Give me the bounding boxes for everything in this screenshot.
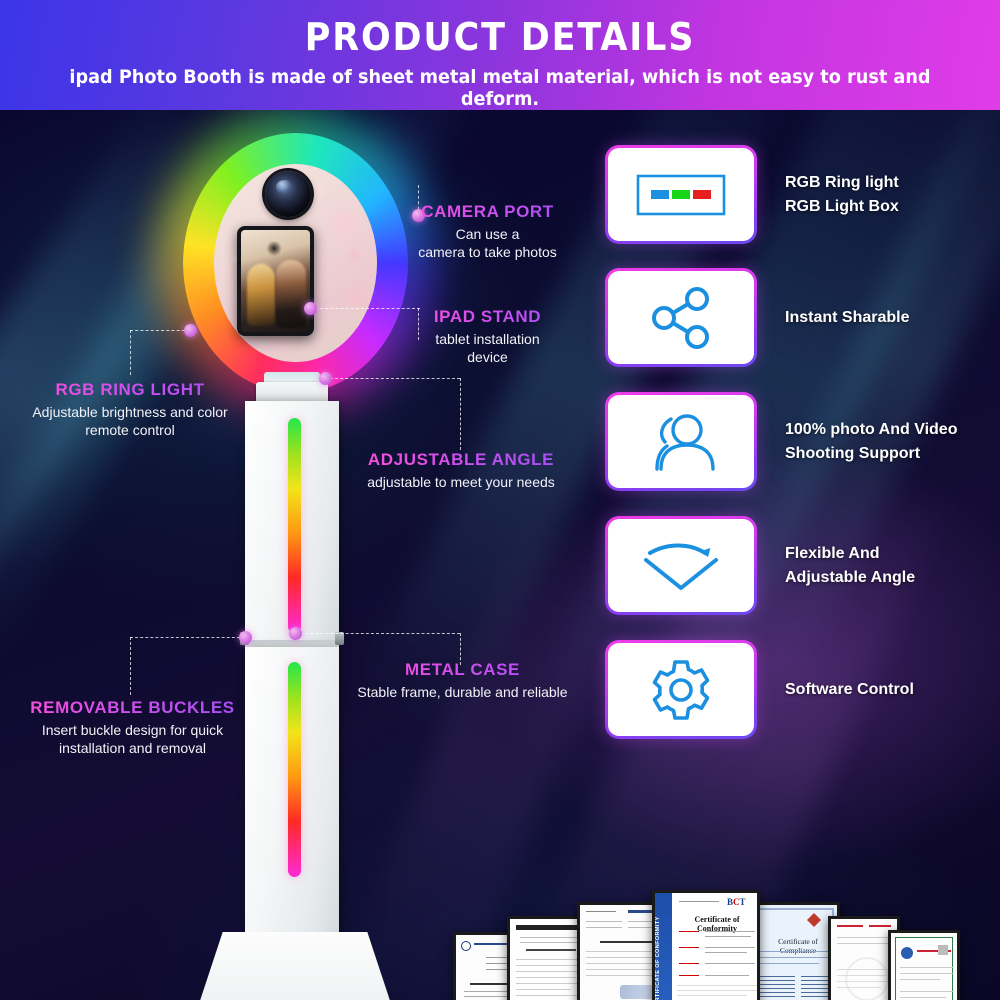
callout-removable-buckles: REMOVABLE BUCKLES Insert buckle design f…	[5, 698, 260, 757]
rgb-strip-upper	[288, 418, 301, 633]
angle-arrow-icon	[639, 540, 723, 592]
connector-dot	[184, 324, 197, 337]
feature-label-line1: Flexible And	[785, 542, 915, 565]
certificates-gallery: CERTIFICATE OF CONFORMITY BCT Certificat…	[445, 888, 960, 1000]
feature-label: Software Control	[785, 678, 914, 701]
feature-label: RGB Ring light RGB Light Box	[785, 171, 899, 217]
rgb-strip-lower	[288, 662, 301, 877]
feature-icon-box	[605, 640, 757, 739]
share-icon	[650, 285, 712, 351]
certificate-item[interactable]: Certificate of Compliance	[748, 902, 840, 1000]
person-icon	[645, 411, 717, 473]
certificate-spine-text: CERTIFICATE OF CONFORMITY	[655, 901, 672, 1000]
feature-label-line2: RGB Light Box	[785, 195, 899, 218]
feature-label-line1: Software Control	[785, 678, 914, 701]
feature-item-rgb-light[interactable]: RGB Ring light RGB Light Box	[605, 145, 899, 244]
feature-label: Instant Sharable	[785, 306, 909, 329]
tablet-screen-photo	[241, 230, 310, 332]
certificate-title: Certificate of Compliance	[761, 937, 835, 955]
ring-light-assembly	[183, 133, 408, 393]
connector-line	[130, 330, 190, 331]
feature-item-adjustable-angle[interactable]: Flexible And Adjustable Angle	[605, 516, 915, 615]
rgb-light-box-icon	[635, 172, 727, 218]
callout-desc-line1: adjustable to meet your needs	[352, 473, 570, 491]
callout-camera-port: CAMERA PORT Can use a camera to take pho…	[395, 202, 580, 261]
callout-desc-line1: Can use a	[395, 225, 580, 243]
callout-ipad-stand: IPAD STAND tablet installation device	[400, 307, 575, 366]
callout-adjustable-angle: ADJUSTABLE ANGLE adjustable to meet your…	[352, 450, 570, 491]
product-detail-page: PRODUCT DETAILS ipad Photo Booth is made…	[0, 0, 1000, 1000]
connector-dot	[304, 302, 317, 315]
callout-desc-line2: device	[400, 348, 575, 366]
callout-desc-line1: Adjustable brightness and color	[10, 403, 250, 421]
callout-desc-line1: Stable frame, durable and reliable	[350, 683, 575, 701]
callout-title: RGB RING LIGHT	[10, 380, 250, 400]
callout-desc-line2: camera to take photos	[395, 243, 580, 261]
callout-title: ADJUSTABLE ANGLE	[352, 450, 570, 470]
callout-desc-line1: tablet installation	[400, 330, 575, 348]
feature-label-line2: Adjustable Angle	[785, 566, 915, 589]
callout-desc-line1: Insert buckle design for quick	[5, 721, 260, 739]
feature-label-line2: Shooting Support	[785, 442, 957, 465]
connector-line	[130, 330, 131, 375]
feature-icon-box	[605, 392, 757, 491]
callout-title: REMOVABLE BUCKLES	[5, 698, 260, 718]
feature-item-photo-video-support[interactable]: 100% photo And Video Shooting Support	[605, 392, 957, 491]
stage: CAMERA PORT Can use a camera to take pho…	[0, 110, 1000, 1000]
certificate-item[interactable]	[888, 930, 960, 1000]
callout-metal-case: METAL CASE Stable frame, durable and rel…	[350, 660, 575, 701]
page-header: PRODUCT DETAILS ipad Photo Booth is made…	[0, 0, 1000, 110]
stand-base-plate	[182, 932, 408, 1000]
connector-dot	[289, 627, 302, 640]
certificate-item-conformity[interactable]: CERTIFICATE OF CONFORMITY BCT Certificat…	[652, 890, 760, 1000]
feature-label-line1: 100% photo And Video	[785, 418, 957, 441]
feature-icon-box	[605, 145, 757, 244]
callout-desc-line2: installation and removal	[5, 739, 260, 757]
camera-module	[265, 171, 311, 217]
feature-label: Flexible And Adjustable Angle	[785, 542, 915, 588]
callout-rgb-ring-light: RGB RING LIGHT Adjustable brightness and…	[10, 380, 250, 439]
connector-line	[295, 633, 460, 634]
certificate-page: Certificate of Compliance	[751, 905, 837, 1000]
gear-icon	[648, 657, 714, 723]
feature-icon-box	[605, 268, 757, 367]
callout-title: METAL CASE	[350, 660, 575, 680]
feature-icon-box	[605, 516, 757, 615]
connector-line	[460, 378, 461, 450]
page-title: PRODUCT DETAILS	[40, 15, 960, 59]
connector-line	[130, 637, 245, 638]
connector-dot	[319, 372, 332, 385]
feature-item-instant-sharable[interactable]: Instant Sharable	[605, 268, 909, 367]
ipad-tablet	[237, 226, 314, 336]
page-subtitle: ipad Photo Booth is made of sheet metal …	[35, 66, 965, 110]
connector-dot	[239, 631, 252, 644]
feature-item-software-control[interactable]: Software Control	[605, 640, 914, 739]
connector-line	[130, 637, 131, 695]
feature-label: 100% photo And Video Shooting Support	[785, 418, 957, 464]
callout-title: IPAD STAND	[400, 307, 575, 327]
callout-desc-line2: remote control	[10, 421, 250, 439]
feature-label-line1: RGB Ring light	[785, 171, 899, 194]
connector-line	[325, 378, 460, 379]
certificate-page	[891, 933, 957, 1000]
certificate-page: CERTIFICATE OF CONFORMITY BCT Certificat…	[655, 893, 757, 1000]
feature-label-line1: Instant Sharable	[785, 306, 909, 329]
callout-title: CAMERA PORT	[395, 202, 580, 222]
